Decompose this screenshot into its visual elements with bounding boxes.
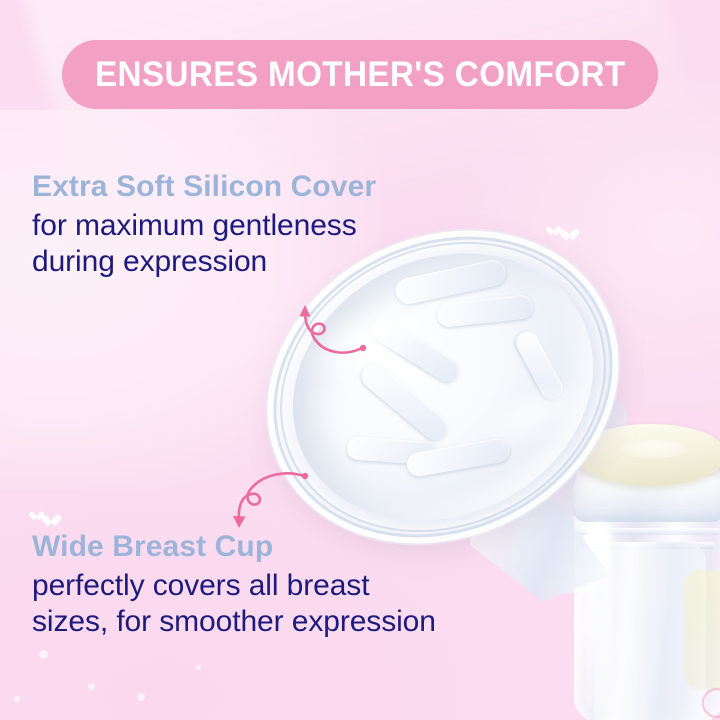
sparkle-dot bbox=[196, 665, 201, 670]
headline-badge: ENSURES MOTHER'S COMFORT bbox=[62, 40, 658, 109]
sparkle-dot bbox=[14, 696, 20, 702]
infographic-canvas: ENSURES MOTHER'S COMFORT Extra Soft Sili… bbox=[0, 0, 720, 720]
feature-title-silicon-cover: Extra Soft Silicon Cover bbox=[32, 170, 376, 203]
feature-block-wide-breast-cup: Wide Breast Cup perfectly covers all bre… bbox=[32, 530, 436, 639]
curly-arrow-down-left-icon bbox=[228, 462, 314, 538]
headline-text: ENSURES MOTHER'S COMFORT bbox=[95, 57, 626, 92]
feature-body-line: sizes, for smoother expression bbox=[32, 604, 436, 640]
heart-icon bbox=[546, 227, 556, 236]
sparkle-dot bbox=[137, 693, 145, 701]
heart-icon bbox=[29, 512, 39, 521]
feature-body-line: during expression bbox=[32, 244, 376, 280]
heart-icon bbox=[559, 229, 572, 241]
background-wash-right bbox=[460, 80, 720, 420]
feature-block-silicon-cover: Extra Soft Silicon Cover for maximum gen… bbox=[32, 170, 376, 279]
feature-body-wide-breast-cup: perfectly covers all breast sizes, for s… bbox=[32, 568, 436, 639]
curly-arrow-up-left-icon bbox=[292, 296, 372, 368]
feature-body-line: for maximum gentleness bbox=[32, 208, 376, 244]
feature-body-silicon-cover: for maximum gentleness during expression bbox=[32, 208, 376, 279]
sparkle-dot bbox=[88, 683, 95, 690]
heart-icon bbox=[41, 515, 54, 527]
sparkle-dot bbox=[39, 650, 48, 659]
feature-body-line: perfectly covers all breast bbox=[32, 568, 436, 604]
